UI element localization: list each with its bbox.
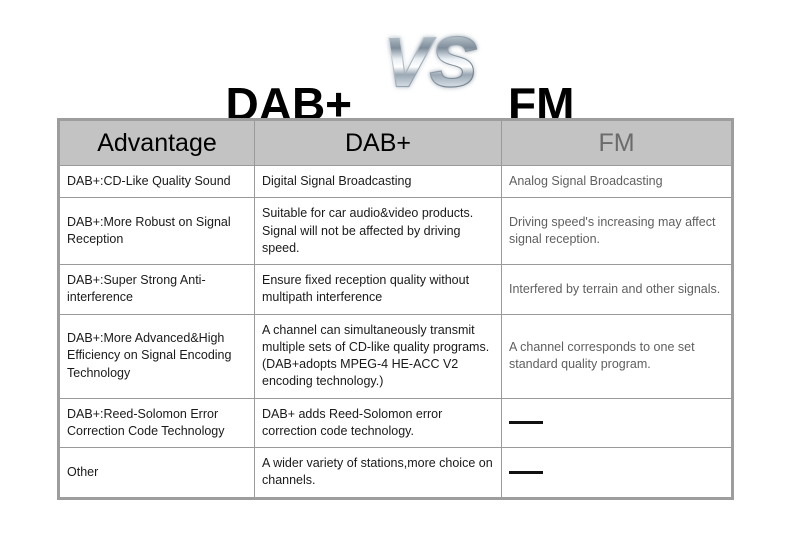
- table-row: Other A wider variety of stations,more c…: [59, 448, 733, 499]
- cell-fm: [502, 398, 733, 448]
- dash-placeholder-icon: [509, 421, 543, 424]
- cell-fm: Interfered by terrain and other signals.: [502, 265, 733, 315]
- table-body: DAB+:CD-Like Quality Sound Digital Signa…: [59, 166, 733, 499]
- table-row: DAB+:CD-Like Quality Sound Digital Signa…: [59, 166, 733, 198]
- banner-inner: DAB+: [226, 20, 575, 113]
- table-header-row: Advantage DAB+ FM: [59, 120, 733, 166]
- table-row: DAB+:Super Strong Anti-interference Ensu…: [59, 265, 733, 315]
- cell-advantage: DAB+:More Robust on Signal Reception: [59, 198, 255, 265]
- cell-advantage: DAB+:Reed-Solomon Error Correction Code …: [59, 398, 255, 448]
- cell-advantage: DAB+:Super Strong Anti-interference: [59, 265, 255, 315]
- table-row: DAB+:More Advanced&High Efficiency on Si…: [59, 314, 733, 398]
- vs-logo: VS: [366, 20, 494, 106]
- comparison-table-wrapper: Advantage DAB+ FM DAB+:CD-Like Quality S…: [57, 118, 734, 500]
- dash-placeholder-icon: [509, 471, 543, 474]
- cell-dab: Suitable for car audio&video products. S…: [255, 198, 502, 265]
- cell-fm: Driving speed's increasing may affect si…: [502, 198, 733, 265]
- comparison-page: DAB+: [0, 0, 800, 556]
- cell-advantage: Other: [59, 448, 255, 499]
- cell-advantage: DAB+:CD-Like Quality Sound: [59, 166, 255, 198]
- vs-metallic-icon: VS: [366, 20, 494, 106]
- cell-dab: A channel can simultaneously transmit mu…: [255, 314, 502, 398]
- column-header-advantage: Advantage: [59, 120, 255, 166]
- table-row: DAB+:Reed-Solomon Error Correction Code …: [59, 398, 733, 448]
- column-header-dab: DAB+: [255, 120, 502, 166]
- svg-text:VS: VS: [383, 23, 476, 101]
- table-row: DAB+:More Robust on Signal Reception Sui…: [59, 198, 733, 265]
- page-title-banner: DAB+: [0, 18, 800, 114]
- cell-advantage: DAB+:More Advanced&High Efficiency on Si…: [59, 314, 255, 398]
- cell-dab: Digital Signal Broadcasting: [255, 166, 502, 198]
- cell-fm: Analog Signal Broadcasting: [502, 166, 733, 198]
- table-header: Advantage DAB+ FM: [59, 120, 733, 166]
- cell-dab: A wider variety of stations,more choice …: [255, 448, 502, 499]
- column-header-fm: FM: [502, 120, 733, 166]
- cell-dab: DAB+ adds Reed-Solomon error correction …: [255, 398, 502, 448]
- cell-fm: A channel corresponds to one set standar…: [502, 314, 733, 398]
- cell-fm: [502, 448, 733, 499]
- comparison-table: Advantage DAB+ FM DAB+:CD-Like Quality S…: [57, 118, 734, 500]
- cell-dab: Ensure fixed reception quality without m…: [255, 265, 502, 315]
